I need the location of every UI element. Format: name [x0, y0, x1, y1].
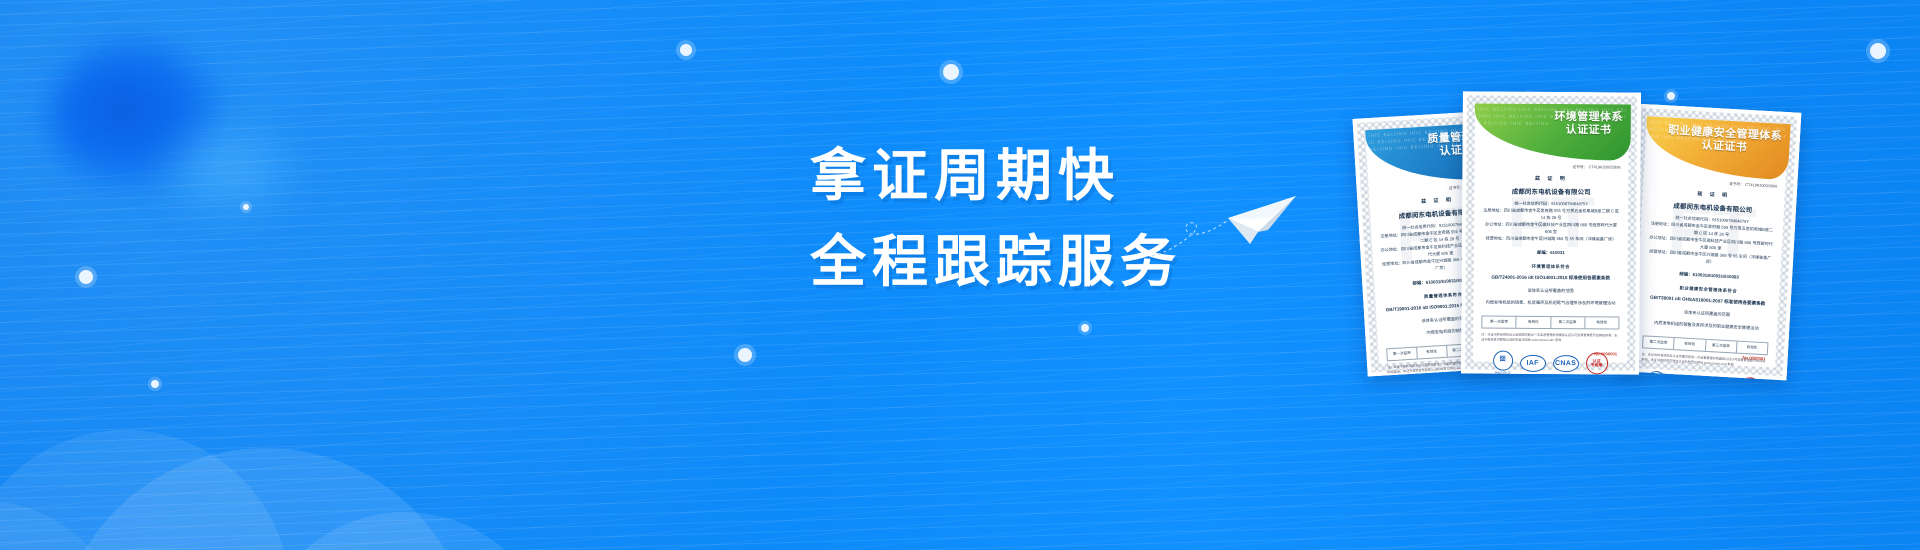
red-stamp-icon: 认证专用章	[1738, 377, 1761, 380]
cnas-seal-icon: CNAS	[1553, 355, 1579, 372]
cnca-seal-label: 中国认证认可	[1493, 371, 1513, 374]
headline-line-1: 拿证周期快	[810, 140, 1182, 212]
certificate-address-office: 办公地址：四川省成都市金牛区高科技产业区四川路 866 号西部时代大厦 606 …	[1482, 221, 1620, 236]
audit-cell: 有效化	[1517, 316, 1551, 328]
certificate-note: 注：本证书的有效性及认证范围可登录一次监督管理机构国家认证认可监督管理委员会网站…	[1481, 333, 1619, 343]
certificate-standard: GB/T28001 idt OHSAS18001:2007 标准使用各要素条款	[1645, 293, 1771, 308]
certificate-company: 成都闵东电机设备有限公司	[1482, 187, 1620, 199]
iaf-seal-icon: IAF	[1672, 376, 1699, 381]
certificate-scope: 内燃发电机组的销售、机房噪声及机组尾气治理所涉及的环境管理活动	[1481, 299, 1619, 307]
audit-cell: 有效化	[1585, 317, 1618, 329]
certificate-scope: 内燃发电机组的销售及其所涉及的职业健康安全管理活动	[1643, 319, 1769, 333]
hero-banner: 拿证周期快 全程跟踪服务 FT IHIC BEIJING IHIC BEIJIN…	[0, 0, 1920, 550]
certificate-banner: IHIC BEIJING IHIC BEIJING IHIC BEIJING I…	[1644, 116, 1791, 180]
decorative-dot	[943, 64, 959, 80]
audit-cell: 有效化	[1674, 338, 1706, 352]
certificate-title-line-1: 环境管理体系	[1554, 111, 1622, 125]
certificate-audit-table: 第一次监审 有效化 第二次监审 有效化	[1481, 315, 1619, 330]
certificate-safety[interactable]: FT IHIC BEIJING IHIC BEIJING IHIC BEIJIN…	[1621, 104, 1802, 381]
certificate-serial: 证书号： CT419K2002/2806	[1482, 164, 1620, 171]
certificate-seals: 囵 中国认证认可 IAF CNAS 认证专用章	[1388, 376, 1509, 377]
cnca-seal-icon: 囵	[1645, 370, 1666, 380]
certificate-section: 环境管理体系符合	[1482, 263, 1620, 271]
iaf-seal-icon: IAF	[1520, 355, 1546, 372]
decorative-dot	[738, 348, 752, 362]
certificate-kicker: 兹 证 明	[1482, 175, 1620, 184]
audit-cell: 第三次监审	[1705, 339, 1737, 353]
certificate-environment[interactable]: FT IHIC BEIJING IHIC BEIJING IHIC BEIJIN…	[1461, 91, 1641, 374]
audit-cell: 有效化	[1737, 341, 1768, 355]
background-light-blob	[150, 110, 310, 230]
decorative-dot	[243, 204, 249, 210]
certificate-banner: IHIC BEIJING IHIC BEIJING IHIC BEIJING I…	[1475, 103, 1631, 160]
decorative-dot	[1081, 324, 1089, 332]
audit-cell: 第一次监审	[1387, 347, 1417, 361]
audit-cell: 第一次监审	[1482, 316, 1516, 328]
certificate-zip: 邮编：610031	[1482, 248, 1620, 256]
certificate-address-operating: 经营地址：四川省成都市金牛区兴城路 368 号 55 车间（冲锋装备厂房）	[1482, 235, 1620, 243]
paper-plane-icon	[1150, 178, 1300, 268]
cnas-seal-icon: CNAS	[1705, 378, 1732, 381]
certificate-number: No.0000001	[1594, 351, 1617, 356]
certificate-standard: GB/T24001-2016 idt ISO14001:2015 标准使用各要素…	[1482, 274, 1620, 283]
audit-cell: 第二次监审	[1643, 336, 1675, 350]
decorative-dot	[151, 380, 159, 388]
audit-cell: 有效化	[1417, 345, 1447, 359]
decorative-dot	[680, 44, 692, 56]
cnca-seal-icon: 囵	[1493, 350, 1513, 370]
certificate-group: FT IHIC BEIJING IHIC BEIJING IHIC BEIJIN…	[1360, 0, 1920, 550]
certificate-title-line-2: 认证证书	[1554, 124, 1622, 138]
certificate-scope-title: 该体系认证所覆盖的范围	[1644, 307, 1770, 321]
hero-headline: 拿证周期快 全程跟踪服务	[810, 140, 1182, 297]
audit-cell: 第二次监审	[1551, 317, 1585, 329]
decorative-dot	[79, 270, 93, 284]
certificate-scope-title: 该体系认证所覆盖的范围	[1482, 287, 1620, 295]
headline-line-2: 全程跟踪服务	[810, 226, 1182, 298]
certificate-address-registered: 注册地址：四川省成都市金牛区金府路 555 号万贯五金机电城B座二期 C 区 1…	[1482, 208, 1620, 223]
certificate-zip: 邮编：610031/610031/610083	[1646, 268, 1772, 282]
